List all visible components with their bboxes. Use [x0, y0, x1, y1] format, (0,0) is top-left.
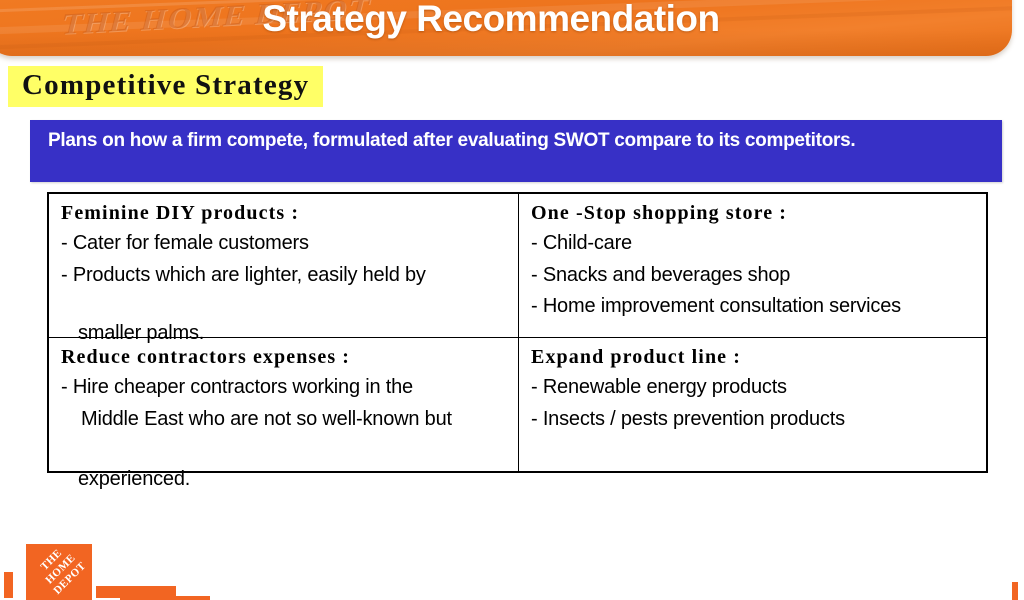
footer-orange-bar-secondary — [120, 596, 210, 600]
cell-bullet: - Snacks and beverages shop — [531, 260, 976, 292]
cell-bullet: - Hire cheaper contractors working in th… — [61, 372, 508, 404]
cell-bullet: - Products which are lighter, easily hel… — [61, 260, 508, 292]
cell-bullet: - Child-care — [531, 228, 976, 260]
slide-title: Strategy Recommendation — [0, 0, 996, 40]
overflow-text-smaller-palms: smaller palms. — [78, 322, 204, 345]
logo-text: THE HOME DEPOT — [26, 544, 92, 600]
home-depot-logo-icon: THE HOME DEPOT — [26, 544, 92, 600]
table-row: Reduce contractors expenses : - Hire che… — [49, 338, 986, 471]
slide-canvas: THE HOME DEPOT Strategy Recommendation C… — [0, 0, 1024, 600]
table-cell-one-stop-store: One -Stop shopping store : - Child-care … — [519, 194, 986, 337]
header-banner: THE HOME DEPOT Strategy Recommendation — [0, 0, 1012, 56]
table-cell-feminine-diy: Feminine DIY products : - Cater for fema… — [49, 194, 519, 337]
cell-heading: One -Stop shopping store : — [531, 202, 976, 225]
cell-bullet: - Cater for female customers — [61, 228, 508, 260]
table-cell-reduce-expenses: Reduce contractors expenses : - Hire che… — [49, 338, 519, 471]
slide-footer: THE HOME DEPOT — [0, 530, 1024, 600]
cell-heading: Feminine DIY products : — [61, 202, 508, 225]
definition-box: Plans on how a firm compete, formulated … — [30, 120, 1002, 182]
cell-bullet: Middle East who are not so well-known bu… — [61, 404, 508, 436]
cell-heading: Expand product line : — [531, 346, 976, 369]
table-row: Feminine DIY products : - Cater for fema… — [49, 194, 986, 338]
footer-right-mark — [1012, 582, 1018, 600]
subtitle-highlight: Competitive Strategy — [8, 66, 323, 107]
footer-accent-tick — [4, 572, 13, 598]
table-cell-expand-product-line: Expand product line : - Renewable energy… — [519, 338, 986, 471]
definition-text: Plans on how a firm compete, formulated … — [48, 128, 988, 153]
cell-bullet: - Home improvement consultation services — [531, 291, 976, 323]
cell-heading: Reduce contractors expenses : — [61, 346, 508, 369]
cell-bullet: - Insects / pests prevention products — [531, 404, 976, 436]
cell-bullet: - Renewable energy products — [531, 372, 976, 404]
overflow-text-experienced: experienced. — [78, 468, 190, 491]
subtitle-container: Competitive Strategy — [8, 66, 323, 108]
